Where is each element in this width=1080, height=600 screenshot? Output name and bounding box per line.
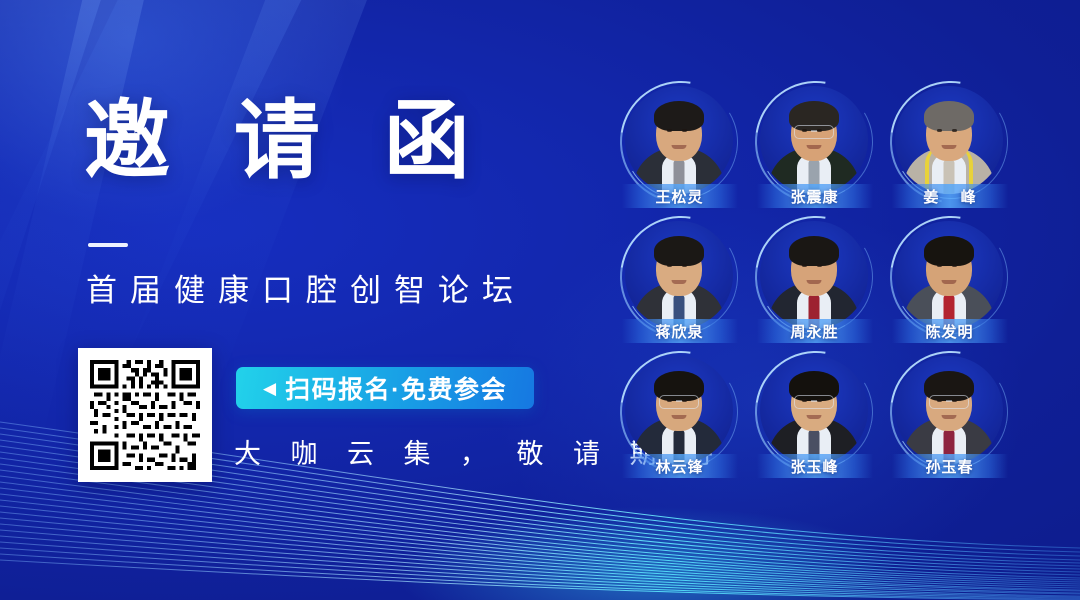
speaker-nameplate: 孙玉春 (892, 454, 1008, 478)
portrait-illustration (625, 356, 733, 464)
speaker-name: 姜 峰 (914, 186, 984, 207)
speaker-name: 周永胜 (790, 321, 838, 342)
title-divider (88, 243, 128, 247)
speaker-card[interactable]: 孙玉春 (882, 354, 1017, 489)
invitation-poster: 邀 请 函 首届健康口腔创智论坛 (0, 0, 1080, 600)
portrait-illustration (895, 86, 1003, 194)
left-content-panel: 邀 请 函 首届健康口腔创智论坛 (0, 0, 600, 600)
speaker-nameplate: 蒋欣泉 (622, 319, 738, 343)
speaker-card[interactable]: 张玉峰 (747, 354, 882, 489)
left-arrow-icon: ◀ (263, 380, 276, 397)
glasses-icon (659, 395, 699, 409)
speaker-card[interactable]: 张震康 (747, 84, 882, 219)
avatar (895, 221, 1003, 329)
speaker-card[interactable]: 姜 峰 (882, 84, 1017, 219)
speaker-name: 孙玉春 (925, 456, 973, 477)
avatar (625, 221, 733, 329)
avatar (625, 86, 733, 194)
register-cta-label: 扫码报名·免费参会 (285, 370, 507, 406)
speaker-card[interactable]: 王松灵 (612, 84, 747, 219)
qr-code[interactable] (78, 348, 212, 482)
speaker-nameplate: 周永胜 (757, 319, 873, 343)
glasses-icon (794, 395, 834, 409)
avatar (760, 356, 868, 464)
speaker-nameplate: 张震康 (757, 184, 873, 208)
portrait-illustration (895, 221, 1003, 329)
speaker-nameplate: 陈发明 (892, 319, 1008, 343)
avatar (895, 86, 1003, 194)
avatar (760, 221, 868, 329)
speaker-card[interactable]: 林云锋 (612, 354, 747, 489)
qr-code-image (86, 356, 204, 474)
page-title: 邀 请 函 (84, 98, 490, 184)
register-cta-button[interactable]: ◀ 扫码报名·免费参会 (236, 367, 534, 409)
portrait-illustration (895, 356, 1003, 464)
event-subtitle: 首届健康口腔创智论坛 (86, 265, 526, 310)
portrait-illustration (760, 356, 868, 464)
portrait-illustration (625, 86, 733, 194)
portrait-illustration (760, 221, 868, 329)
avatar (895, 356, 1003, 464)
speaker-grid: 王松灵张震康姜 峰蒋欣泉周永胜陈发明林云锋张玉峰孙玉春 (612, 84, 1068, 504)
speaker-nameplate: 林云锋 (622, 454, 738, 478)
speaker-nameplate: 张玉峰 (757, 454, 873, 478)
speaker-card[interactable]: 蒋欣泉 (612, 219, 747, 354)
speaker-name: 张震康 (790, 186, 838, 207)
speaker-card[interactable]: 周永胜 (747, 219, 882, 354)
speaker-nameplate: 姜 峰 (892, 184, 1008, 208)
portrait-illustration (625, 221, 733, 329)
avatar (760, 86, 868, 194)
speaker-name: 蒋欣泉 (655, 321, 703, 342)
speaker-card[interactable]: 陈发明 (882, 219, 1017, 354)
speaker-nameplate: 王松灵 (622, 184, 738, 208)
avatar (625, 356, 733, 464)
speaker-name: 陈发明 (925, 321, 973, 342)
speaker-name: 张玉峰 (790, 456, 838, 477)
glasses-icon (794, 125, 834, 139)
speaker-name: 王松灵 (655, 186, 703, 207)
speaker-name: 林云锋 (655, 456, 703, 477)
portrait-illustration (760, 86, 868, 194)
glasses-icon (929, 395, 969, 409)
